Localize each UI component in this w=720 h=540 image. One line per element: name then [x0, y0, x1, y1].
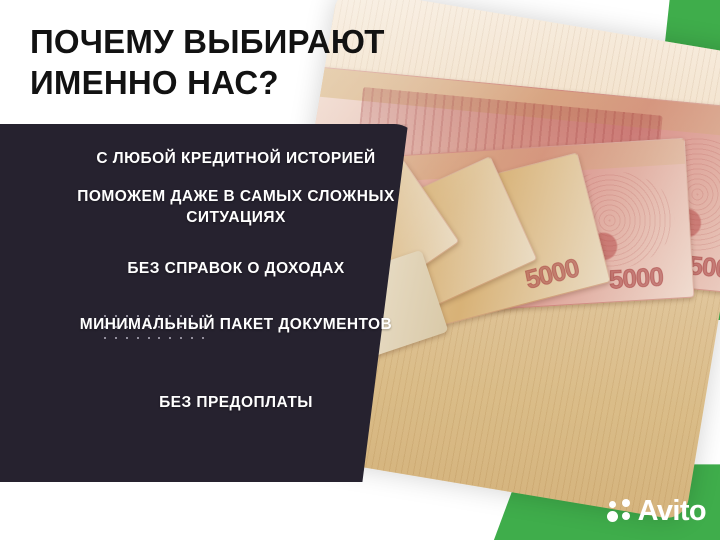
dot — [169, 326, 171, 328]
page-title: ПОЧЕМУ ВЫБИРАЮТ ИМЕННО НАС? — [30, 21, 450, 103]
list-item: БЕЗ ПРЕДОПЛАТЫ — [60, 392, 412, 413]
dot — [126, 315, 128, 317]
dot — [202, 315, 204, 317]
dot — [180, 315, 182, 317]
dot — [169, 337, 171, 339]
dot — [180, 326, 182, 328]
dot — [191, 315, 193, 317]
dot — [104, 337, 106, 339]
list-item: БЕЗ СПРАВОК О ДОХОДАХ — [60, 258, 412, 279]
dot-grid-decoration — [100, 311, 208, 343]
headline-line-1: ПОЧЕМУ ВЫБИРАЮТ — [30, 21, 450, 62]
list-item: С ЛЮБОЙ КРЕДИТНОЙ ИСТОРИЕЙ — [60, 148, 412, 169]
dot — [191, 337, 193, 339]
dot — [115, 337, 117, 339]
ad-banner: ТЫСЯЧ РУБЛЕЙ 5000 ТЫСЯЧ РУБЛЕЙ 5000 5000 — [0, 0, 720, 540]
list-item: ПОМОЖЕМ ДАЖЕ В САМЫХ СЛОЖНЫХ СИТУАЦИЯХ — [60, 186, 412, 228]
dot — [169, 315, 171, 317]
dot — [126, 337, 128, 339]
dot — [148, 326, 150, 328]
dot — [137, 326, 139, 328]
dot — [148, 315, 150, 317]
dot — [104, 326, 106, 328]
dot — [137, 337, 139, 339]
dot — [115, 315, 117, 317]
dot — [126, 326, 128, 328]
dot — [180, 337, 182, 339]
dot — [202, 337, 204, 339]
dot — [158, 326, 160, 328]
dot — [104, 315, 106, 317]
dot — [158, 337, 160, 339]
dot — [115, 326, 117, 328]
dot — [202, 326, 204, 328]
benefits-list: С ЛЮБОЙ КРЕДИТНОЙ ИСТОРИЕЙ ПОМОЖЕМ ДАЖЕ … — [60, 124, 412, 482]
avito-watermark: Avito — [607, 497, 706, 526]
avito-wordmark: Avito — [638, 497, 706, 526]
headline-line-2: ИМЕННО НАС? — [30, 62, 450, 103]
avito-dots-icon — [607, 499, 633, 525]
dot — [148, 337, 150, 339]
dot — [191, 326, 193, 328]
dot — [158, 315, 160, 317]
dot — [137, 315, 139, 317]
